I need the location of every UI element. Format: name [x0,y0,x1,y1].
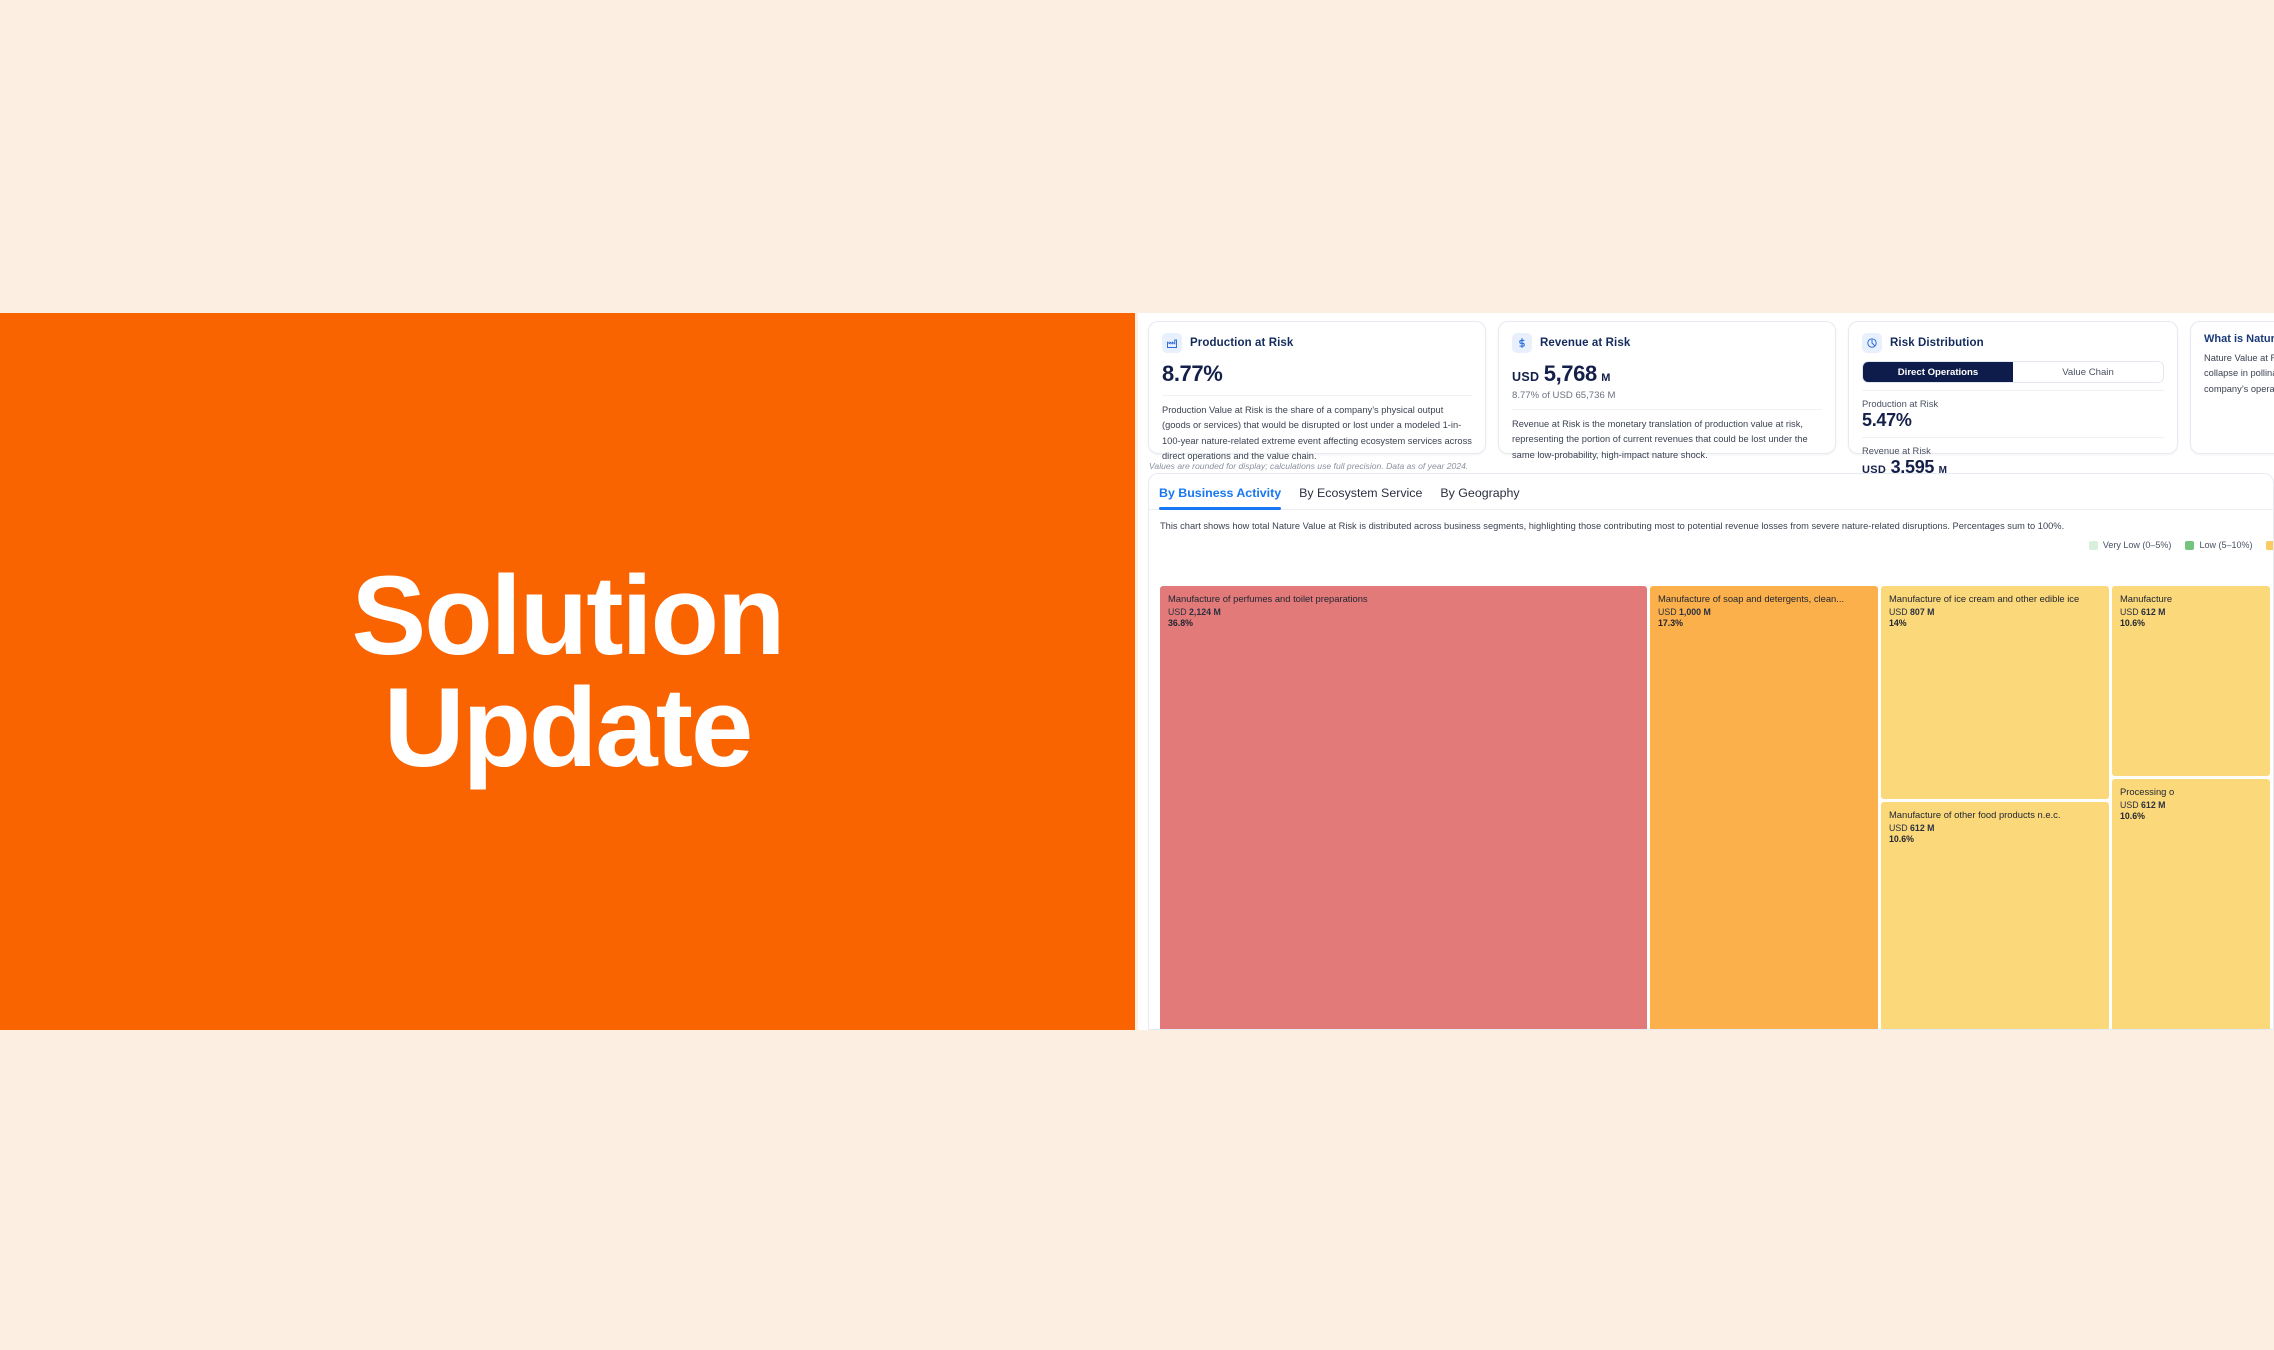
production-at-risk-value: 5.47% [1862,410,2164,431]
tile-percent: 36.8% [1168,618,1639,628]
legend-label: Very Low (0–5%) [2103,540,2172,550]
tile-amount: 2,124 [1189,607,1211,617]
segment-value-chain[interactable]: Value Chain [2013,362,2163,382]
tile-name: Manufacture of ice cream and other edibl… [1889,593,2101,605]
slide-title: Solution Update [352,560,784,784]
tile-value: USD 2,124 M [1168,607,1639,617]
tile-name: Processing o [2120,786,2262,798]
segment-direct-operations[interactable]: Direct Operations [1863,362,2013,382]
tile-currency: USD [1889,823,1908,833]
tile-value: USD 1,000 M [1658,607,1870,617]
tile-value: USD 612 M [1889,823,2101,833]
tile-percent: 10.6% [2120,811,2262,821]
tile-unit: M [1927,823,1934,833]
tile-percent: 10.6% [2120,618,2262,628]
tile-unit: M [2158,800,2165,810]
tile-name: Manufacture [2120,593,2262,605]
tile-unit: M [1704,607,1711,617]
legend-item-low: Low (5–10%) [2185,540,2252,550]
card-title: What is Nature Valu [2204,333,2274,345]
card-description: Revenue at Risk is the monetary translat… [1512,417,1822,463]
legend-swatch-very-low [2089,541,2098,550]
tile-unit: M [1214,607,1221,617]
tile-name: Manufacture of other food products n.e.c… [1889,809,2101,821]
kpi-card-what-is-nature-value-at-risk: What is Nature Valu Nature Value at Risk… [2190,321,2274,454]
amount-value: 5,768 [1544,361,1597,386]
legend-item-medium: Medium (10– [2266,540,2274,550]
dashboard-screenshot: Production at Risk 8.77% Production Valu… [1138,313,2274,1030]
legend-swatch-medium [2266,541,2274,550]
divider [1162,395,1472,396]
treemap-tile[interactable]: Manufacture of soap and detergents, clea… [1650,586,1878,1030]
revenue-at-risk-label: Revenue at Risk [1862,445,2164,456]
treemap-column-4: Manufacture USD 612 M 10.6% Processing o… [2112,586,2270,1030]
tile-currency: USD [2120,800,2139,810]
risk-scope-segmented-control[interactable]: Direct Operations Value Chain [1862,361,2164,383]
divider [1512,409,1822,410]
tile-amount: 1,000 [1679,607,1701,617]
tab-by-business-activity[interactable]: By Business Activity [1159,486,1281,509]
panel-tabs: By Business Activity By Ecosystem Servic… [1149,474,2273,510]
kpi-card-risk-distribution: Risk Distribution Direct Operations Valu… [1848,321,2178,454]
tile-currency: USD [1889,607,1908,617]
card-header: Risk Distribution [1862,333,2164,353]
tile-value: USD 612 M [2120,800,2262,810]
treemap-legend: Very Low (0–5%) Low (5–10%) Medium (10– [1149,531,2274,556]
treemap-tile[interactable]: Manufacture USD 612 M 10.6% [2112,586,2270,776]
unit-label: M [1601,372,1610,384]
tile-percent: 10.6% [1889,834,2101,844]
tile-name: Manufacture of soap and detergents, clea… [1658,593,1870,605]
legend-item-very-low: Very Low (0–5%) [2089,540,2172,550]
production-at-risk-value: 8.77% [1162,361,1472,387]
treemap-tile[interactable]: Manufacture of perfumes and toilet prepa… [1160,586,1647,1030]
treemap-chart: Manufacture of perfumes and toilet prepa… [1160,586,2270,1030]
treemap-tile[interactable]: Manufacture of ice cream and other edibl… [1881,586,2109,799]
rounding-footnote: Values are rounded for display; calculat… [1149,461,1468,471]
treemap-column-3: Manufacture of ice cream and other edibl… [1881,586,2109,1030]
revenue-subnote: 8.77% of USD 65,736 M [1512,390,1822,401]
divider [1862,390,2164,391]
kpi-card-revenue-at-risk: Revenue at Risk USD 5,768 M 8.77% of USD… [1498,321,1836,454]
tile-unit: M [2158,607,2165,617]
tile-percent: 14% [1889,618,2101,628]
tile-percent: 17.3% [1658,618,1870,628]
card-header: Production at Risk [1162,333,1472,353]
card-title: Production at Risk [1190,337,1293,349]
tile-value: USD 807 M [1889,607,2101,617]
tile-value: USD 612 M [2120,607,2262,617]
treemap-column-2: Manufacture of soap and detergents, clea… [1650,586,1878,1030]
card-header: Revenue at Risk [1512,333,1822,353]
kpi-card-production-at-risk: Production at Risk 8.77% Production Valu… [1148,321,1486,454]
legend-label: Low (5–10%) [2199,540,2252,550]
tile-name: Manufacture of perfumes and toilet prepa… [1168,593,1639,605]
tile-amount: 612 [2141,800,2156,810]
tab-by-ecosystem-service[interactable]: By Ecosystem Service [1299,486,1422,509]
legend-swatch-low [2185,541,2194,550]
card-title: Risk Distribution [1890,337,1984,349]
tile-unit: M [1927,607,1934,617]
chart-description: This chart shows how total Nature Value … [1149,510,2273,531]
kpi-card-row: Production at Risk 8.77% Production Valu… [1138,313,2274,456]
tile-currency: USD [2120,607,2139,617]
treemap-tile[interactable]: Manufacture of other food products n.e.c… [1881,802,2109,1030]
factory-icon [1162,333,1182,353]
pie-chart-icon [1862,333,1882,353]
dollar-icon [1512,333,1532,353]
card-description: Nature Value at Risk (N company could lo… [2204,351,2274,397]
tab-by-geography[interactable]: By Geography [1440,486,1519,509]
tile-amount: 807 [1910,607,1925,617]
treemap-column-1: Manufacture of perfumes and toilet prepa… [1160,586,1647,1030]
slide-panel: Solution Update [0,313,1135,1030]
card-title: Revenue at Risk [1540,337,1630,349]
tile-amount: 612 [1910,823,1925,833]
distribution-panel: By Business Activity By Ecosystem Servic… [1148,473,2274,1030]
card-description: Production Value at Risk is the share of… [1162,403,1472,464]
divider [1862,437,2164,438]
currency-label: USD [1512,370,1539,384]
treemap-tile[interactable]: Processing o USD 612 M 10.6% [2112,779,2270,1030]
tile-currency: USD [1658,607,1677,617]
tile-amount: 612 [2141,607,2156,617]
revenue-at-risk-value: USD 5,768 M [1512,361,1822,387]
tile-currency: USD [1168,607,1187,617]
production-at-risk-label: Production at Risk [1862,398,2164,409]
